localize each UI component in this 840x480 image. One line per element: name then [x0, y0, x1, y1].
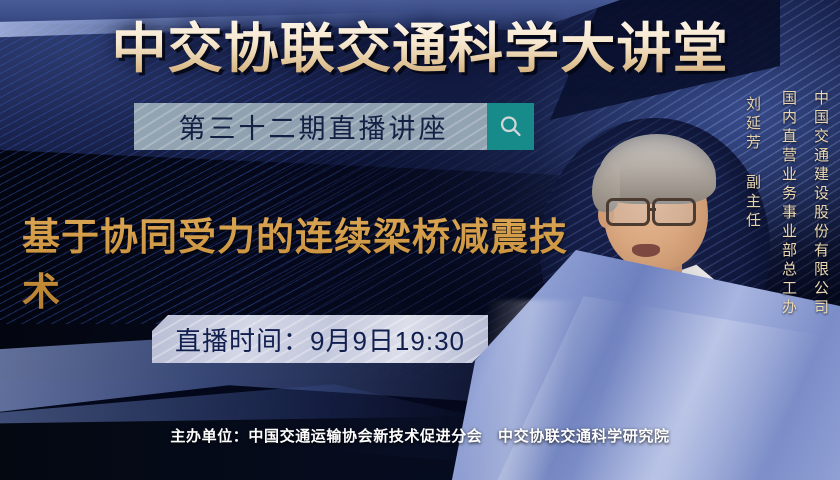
live-lecture-poster: 中交协联交通科学大讲堂 第三十二期直播讲座 基于协同受力的连续梁桥减震技术 直播…	[0, 0, 840, 480]
photo-microphone-head-right	[666, 272, 683, 296]
page-title: 中交协联交通科学大讲堂	[0, 20, 840, 78]
speaker-name-title: 刘延芳 副主任	[742, 96, 762, 231]
lecture-topic-headline: 基于协同受力的连续梁桥减震技术	[22, 206, 602, 316]
organizer-footer: 主办单位：中国交通运输协会新技术促进分会 中交协联交通科学研究院	[0, 425, 840, 446]
photo-eyeglass-right	[652, 198, 696, 226]
photo-mouth	[632, 244, 660, 257]
photo-eyeglass-left	[606, 198, 650, 226]
episode-banner: 第三十二期直播讲座	[134, 103, 534, 150]
broadcast-time-box: 直播时间：9月9日19:30	[152, 315, 488, 363]
broadcast-time-label: 直播时间：9月9日19:30	[175, 321, 465, 358]
search-icon[interactable]	[487, 103, 534, 150]
speaker-department: 国内直营业务事业部总工办	[778, 90, 798, 318]
episode-label: 第三十二期直播讲座	[134, 107, 487, 146]
photo-eyeglass-bridge	[648, 208, 656, 211]
speaker-company: 中国交通建设股份有限公司	[810, 90, 830, 318]
